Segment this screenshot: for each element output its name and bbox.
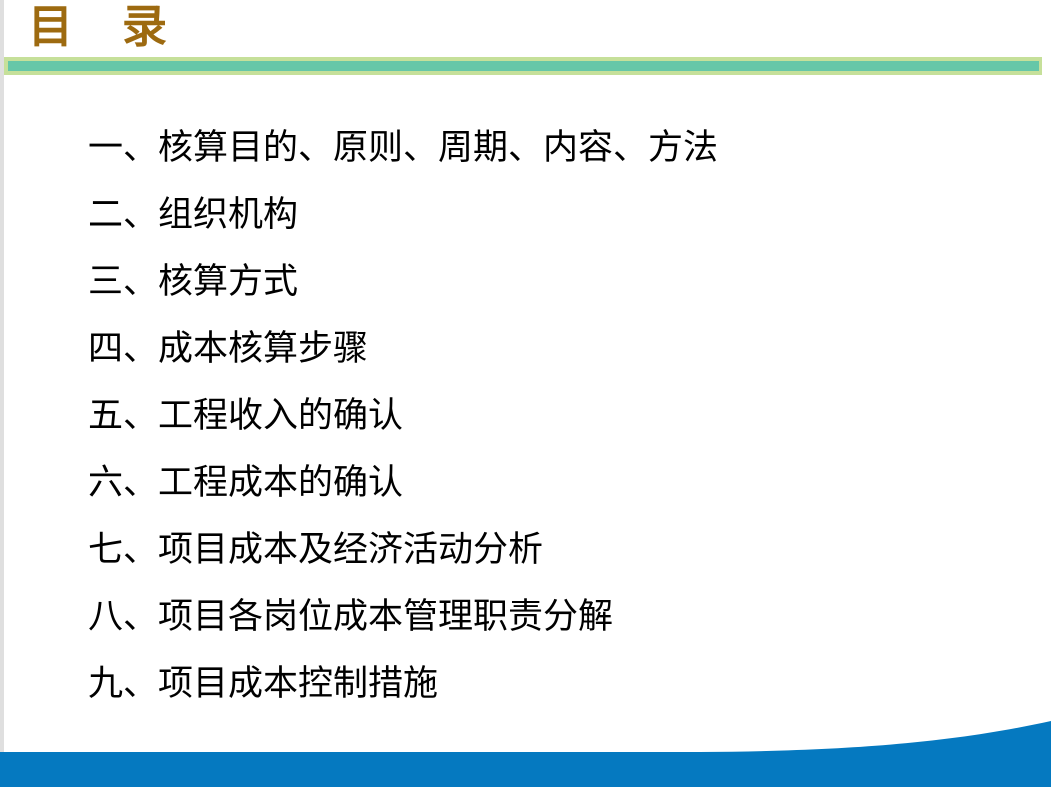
title-divider-inner-bar [8, 61, 1039, 71]
page-title: 目 录 [28, 0, 169, 55]
list-item-number: 五、 [88, 382, 158, 449]
list-item[interactable]: 九、 项目成本控制措施 [0, 650, 1051, 717]
list-item-label: 项目成本控制措施 [158, 650, 438, 717]
list-item-label: 项目成本及经济活动分析 [158, 516, 543, 583]
list-item-number: 七、 [88, 516, 158, 583]
list-item-label: 成本核算步骤 [158, 315, 368, 382]
footer-band-shape [0, 715, 1051, 787]
list-item[interactable]: 七、 项目成本及经济活动分析 [0, 516, 1051, 583]
list-item[interactable]: 五、 工程收入的确认 [0, 382, 1051, 449]
list-item-label: 核算方式 [158, 248, 298, 315]
list-item[interactable]: 三、 核算方式 [0, 248, 1051, 315]
table-of-contents-list: 一、 核算目的、原则、周期、内容、方法 二、 组织机构 三、 核算方式 四、 成… [0, 114, 1051, 717]
slide-title-area: 目 录 [0, 0, 1051, 58]
list-item-label: 工程收入的确认 [158, 382, 403, 449]
list-item-number: 三、 [88, 248, 158, 315]
list-item-number: 九、 [88, 650, 158, 717]
list-item-label: 工程成本的确认 [158, 449, 403, 516]
list-item[interactable]: 一、 核算目的、原则、周期、内容、方法 [0, 114, 1051, 181]
list-item-number: 二、 [88, 181, 158, 248]
slide-footer-band [0, 715, 1051, 787]
list-item[interactable]: 二、 组织机构 [0, 181, 1051, 248]
list-item[interactable]: 六、 工程成本的确认 [0, 449, 1051, 516]
list-item[interactable]: 八、 项目各岗位成本管理职责分解 [0, 583, 1051, 650]
list-item-label: 核算目的、原则、周期、内容、方法 [158, 114, 718, 181]
list-item-label: 组织机构 [158, 181, 298, 248]
list-item-number: 一、 [88, 114, 158, 181]
list-item-number: 八、 [88, 583, 158, 650]
presentation-slide: 目 录 一、 核算目的、原则、周期、内容、方法 二、 组织机构 三、 核算方式 … [0, 0, 1051, 787]
list-item-number: 四、 [88, 315, 158, 382]
list-item[interactable]: 四、 成本核算步骤 [0, 315, 1051, 382]
list-item-number: 六、 [88, 449, 158, 516]
list-item-label: 项目各岗位成本管理职责分解 [158, 583, 613, 650]
